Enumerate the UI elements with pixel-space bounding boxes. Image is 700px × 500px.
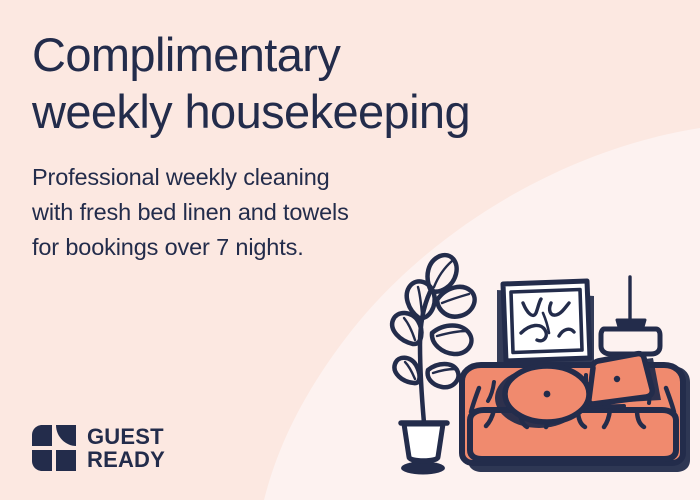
sofa (462, 354, 690, 472)
square-pillow (589, 354, 661, 404)
plant-pot (404, 424, 443, 461)
plant-leaves (392, 255, 474, 387)
logo-line-ready: READY (87, 448, 165, 471)
logo-wordmark: GUEST READY (87, 425, 165, 471)
page-title: Complimentary weekly housekeeping (32, 26, 632, 140)
promo-banner: Complimentary weekly housekeeping Profes… (0, 0, 700, 500)
lamp-cap (617, 320, 645, 327)
square-pillow-body (589, 354, 653, 404)
lamp-shade (601, 329, 660, 354)
headline-block: Complimentary weekly housekeeping (32, 26, 632, 140)
round-cushion-button (544, 391, 551, 398)
logo-line-guest: GUEST (87, 425, 165, 448)
brand-logo: GUEST READY (32, 425, 165, 471)
description-text: Professional weekly cleaning with fresh … (32, 160, 349, 265)
framed-artwork (497, 281, 594, 370)
guestready-mark-icon (32, 425, 76, 471)
square-pillow-button (614, 376, 620, 382)
